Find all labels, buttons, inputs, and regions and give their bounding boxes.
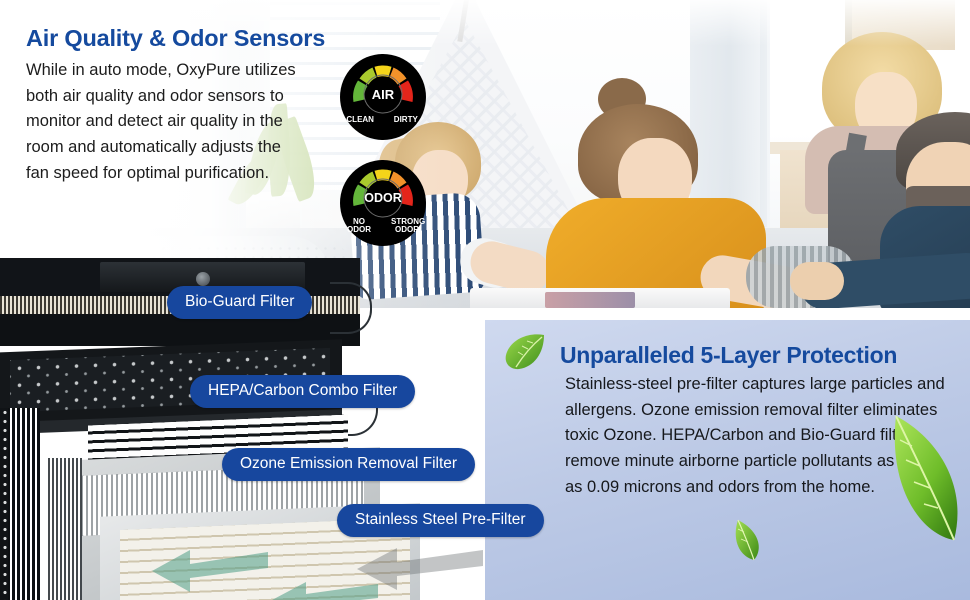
leaf-icon <box>730 518 764 562</box>
odor-no-line2: ODOR <box>347 225 371 234</box>
air-quality-gauge: AIR CLEAN DIRTY <box>340 54 426 140</box>
airflow-arrow-icon <box>355 546 485 592</box>
sensors-copy-block: Air Quality & Odor Sensors While in auto… <box>26 26 316 187</box>
protection-heading: Unparalleled 5-Layer Protection <box>560 342 897 369</box>
sensors-paragraph: While in auto mode, OxyPure utilizes bot… <box>26 58 304 187</box>
filter-label-stainless-pre[interactable]: Stainless Steel Pre-Filter <box>337 504 544 537</box>
air-gauge-center-label: AIR <box>340 87 426 102</box>
odor-strong-line2: ODOR <box>395 225 419 234</box>
filter-label-bio-guard[interactable]: Bio-Guard Filter <box>167 286 312 319</box>
leaf-icon <box>880 410 970 550</box>
odor-gauge-strong-odor-label: STRONG ODOR <box>391 218 423 235</box>
air-gauge-dirty-label: DIRTY <box>391 116 421 124</box>
sensors-heading: Air Quality & Odor Sensors <box>26 26 316 52</box>
leaf-icon <box>503 332 547 372</box>
protection-section: Unparalleled 5-Layer Protection Stainles… <box>0 320 970 600</box>
filter-label-hepa-carbon[interactable]: HEPA/Carbon Combo Filter <box>190 375 415 408</box>
filter-label-ozone-removal[interactable]: Ozone Emission Removal Filter <box>222 448 475 481</box>
air-gauge-clean-label: CLEAN <box>345 116 375 124</box>
odor-gauge-center-label: ODOR <box>340 191 426 205</box>
infographic-page: Air Quality & Odor Sensors While in auto… <box>0 0 970 600</box>
odor-gauge: ODOR NO ODOR STRONG ODOR <box>340 160 426 246</box>
airflow-arrow-icon <box>150 548 270 594</box>
protection-panel: Unparalleled 5-Layer Protection Stainles… <box>485 320 970 600</box>
odor-gauge-no-odor-label: NO ODOR <box>343 218 375 235</box>
